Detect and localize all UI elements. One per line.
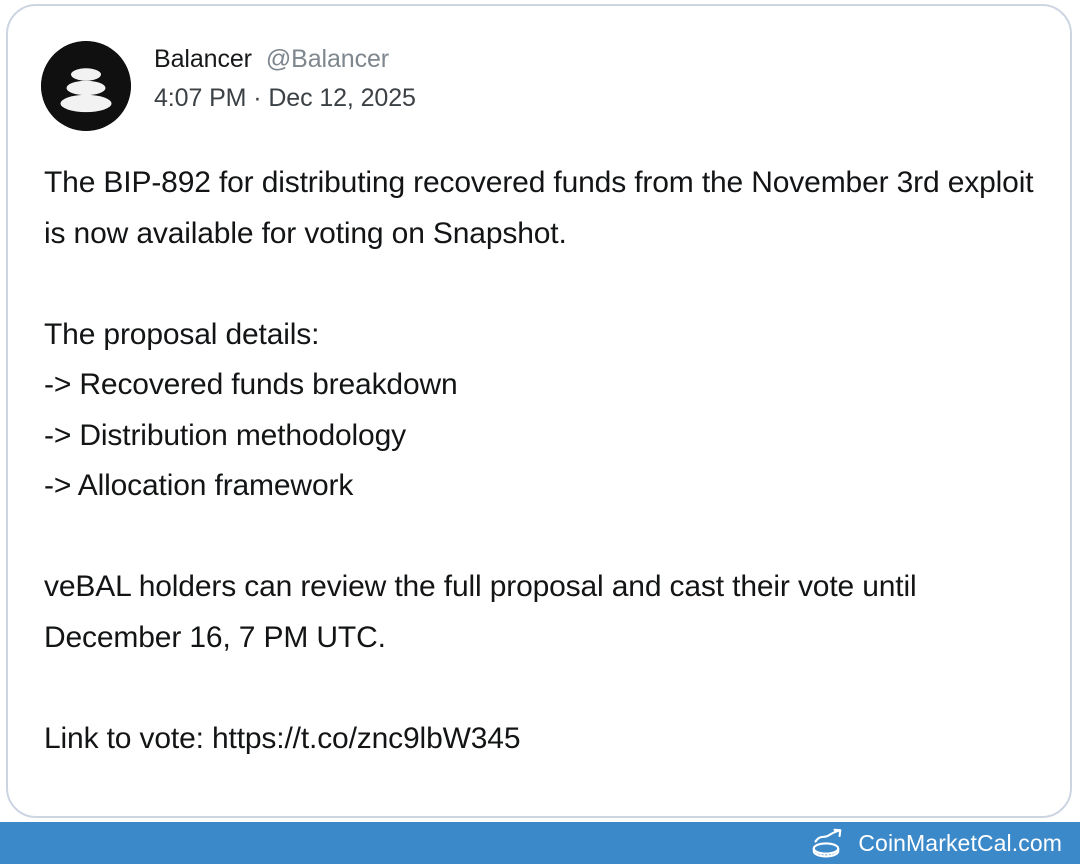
brand-bar: CoinMarketCal.com xyxy=(0,822,1080,864)
tweet-header: Balancer @Balancer 4:07 PM · Dec 12, 202… xyxy=(41,41,416,131)
balancer-stones-logo-icon xyxy=(41,41,131,131)
screenshot-root: Balancer @Balancer 4:07 PM · Dec 12, 202… xyxy=(0,0,1080,864)
author-display-name[interactable]: Balancer xyxy=(154,45,252,74)
coin-shape xyxy=(814,843,838,856)
author-name-row: Balancer @Balancer xyxy=(154,45,416,74)
tweet-timestamp[interactable]: 4:07 PM · Dec 12, 2025 xyxy=(154,84,416,113)
tweet-body-text: The BIP-892 for distributing recovered f… xyxy=(44,158,1049,764)
author-handle[interactable]: @Balancer xyxy=(266,45,389,74)
avatar[interactable] xyxy=(41,41,131,131)
coin-chart-arrow-icon xyxy=(809,827,849,859)
brand-label[interactable]: CoinMarketCal.com xyxy=(858,830,1062,857)
tweet-card: Balancer @Balancer 4:07 PM · Dec 12, 202… xyxy=(6,4,1072,818)
brand-logo-group[interactable]: CoinMarketCal.com xyxy=(809,827,1062,859)
author-identity: Balancer @Balancer 4:07 PM · Dec 12, 202… xyxy=(154,41,416,113)
